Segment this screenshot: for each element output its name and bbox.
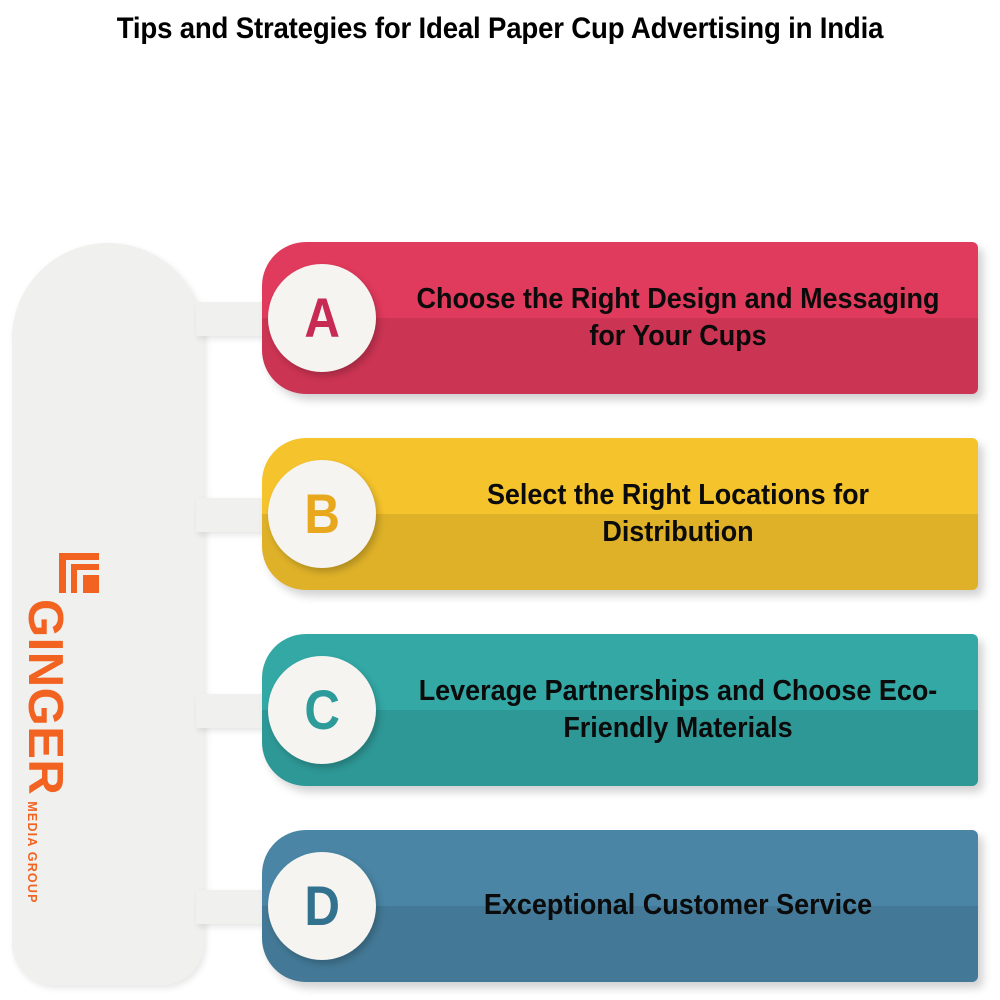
step-letter-c: C [304,682,340,738]
step-label-d: Exceptional Customer Service [408,830,947,982]
step-label-a: Choose the Right Design and Messaging fo… [408,242,947,394]
logo-tagline: MEDIA GROUP [22,801,39,903]
step-row-c[interactable]: Leverage Partnerships and Choose Eco-Fri… [262,634,978,786]
nested-squares-icon [59,553,99,593]
step-badge-b: B [268,460,376,568]
step-badge-d: D [268,852,376,960]
step-letter-d: D [304,878,340,934]
step-badge-a: A [268,264,376,372]
step-row-b[interactable]: Select the Right Locations for Distribut… [262,438,978,590]
step-row-d[interactable]: Exceptional Customer Service D [262,830,978,982]
step-letter-b: B [304,486,340,542]
logo: GINGER MEDIA GROUP [12,243,204,985]
step-row-a[interactable]: Choose the Right Design and Messaging fo… [262,242,978,394]
step-letter-a: A [304,290,340,346]
page-title: Tips and Strategies for Ideal Paper Cup … [58,10,941,47]
step-label-b: Select the Right Locations for Distribut… [408,438,947,590]
step-label-c: Leverage Partnerships and Choose Eco-Fri… [408,634,947,786]
brand-panel: GINGER MEDIA GROUP [12,243,204,985]
step-badge-c: C [268,656,376,764]
logo-name: GINGER [22,599,67,795]
infographic-page: Tips and Strategies for Ideal Paper Cup … [0,0,1000,1000]
